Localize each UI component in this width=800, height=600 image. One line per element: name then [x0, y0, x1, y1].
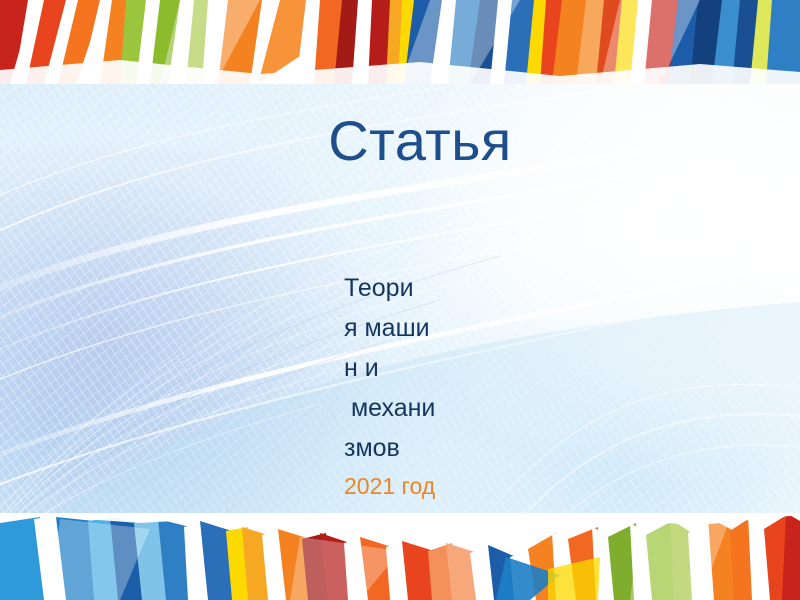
subtitle-line: н и	[344, 348, 456, 388]
presentation-slide: Статья Теори я маши н и механи змов 2021…	[0, 0, 800, 600]
subtitle-line: механи	[344, 388, 456, 428]
geometric-shards-bottom	[0, 513, 800, 600]
subtitle-line: змов	[344, 428, 456, 468]
geometric-shards-top	[0, 0, 800, 84]
bottom-band-graphic	[0, 513, 800, 600]
slide-title: Статья	[160, 112, 680, 171]
subtitle-line: Теори	[344, 268, 456, 308]
subtitle-line: я маши	[344, 308, 456, 348]
slide-year: 2021 год	[344, 468, 456, 504]
top-band-graphic	[0, 0, 800, 84]
slide-subtitle: Теори я маши н и механи змов 2021 год	[344, 268, 456, 504]
